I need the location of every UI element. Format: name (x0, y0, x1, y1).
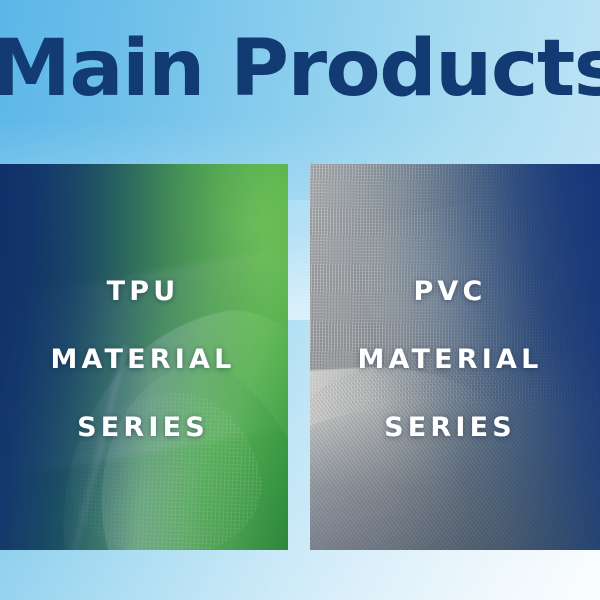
product-banner: Main Products TPU MATERIAL SERIES PVC (0, 0, 600, 600)
tpu-label-line3: SERIES (0, 414, 287, 441)
page-title: Main Products (0, 30, 600, 108)
pvc-label-line3: SERIES (310, 414, 595, 441)
pvc-label-line2: MATERIAL (310, 346, 595, 373)
product-card-tpu[interactable]: TPU MATERIAL SERIES (0, 164, 288, 550)
tpu-label-line2: MATERIAL (0, 346, 287, 373)
tpu-label-line1: TPU (0, 278, 287, 305)
product-card-pvc[interactable]: PVC MATERIAL SERIES (310, 164, 600, 550)
pvc-label-line1: PVC (310, 278, 595, 305)
